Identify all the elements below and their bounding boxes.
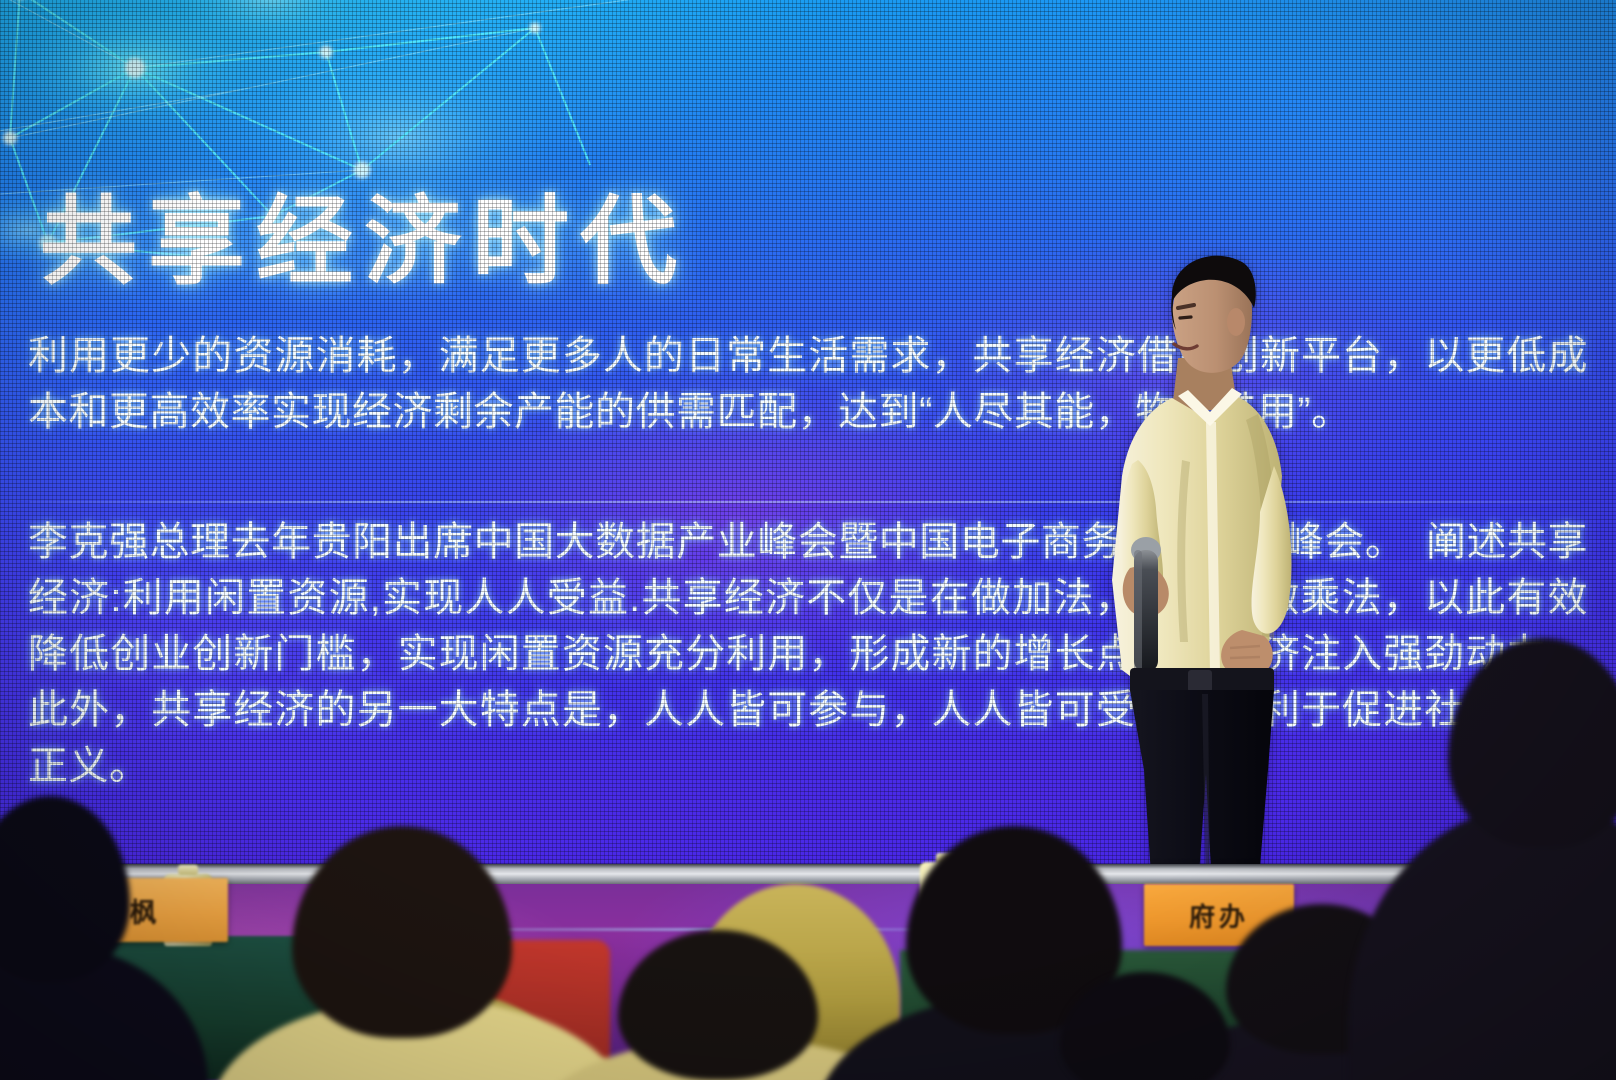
- audience-member: [0, 796, 170, 1080]
- audience-head: [1060, 972, 1230, 1080]
- handheld-microphone: [1131, 537, 1161, 672]
- audience-member: [1400, 638, 1616, 1080]
- conference-photo: 共享经济时代 利用更少的资源消耗，满足更多人的日常生活需求，共享经济借助创新平台…: [0, 0, 1616, 1080]
- audience-head: [1448, 638, 1616, 848]
- led-presentation-screen: 共享经济时代 利用更少的资源消耗，满足更多人的日常生活需求，共享经济借助创新平台…: [0, 0, 1616, 872]
- audience-member: [250, 826, 580, 1080]
- thermos-lid: [178, 865, 198, 875]
- audience-head: [0, 796, 130, 982]
- audience-member: [560, 930, 890, 1080]
- audience-member: [1000, 972, 1300, 1080]
- presenter-figure: [1060, 250, 1360, 890]
- audience-head: [292, 826, 512, 1038]
- audience-head: [618, 930, 818, 1080]
- slide-title: 共享经济时代: [40, 193, 688, 290]
- screen-bottom-frame: [0, 864, 1616, 886]
